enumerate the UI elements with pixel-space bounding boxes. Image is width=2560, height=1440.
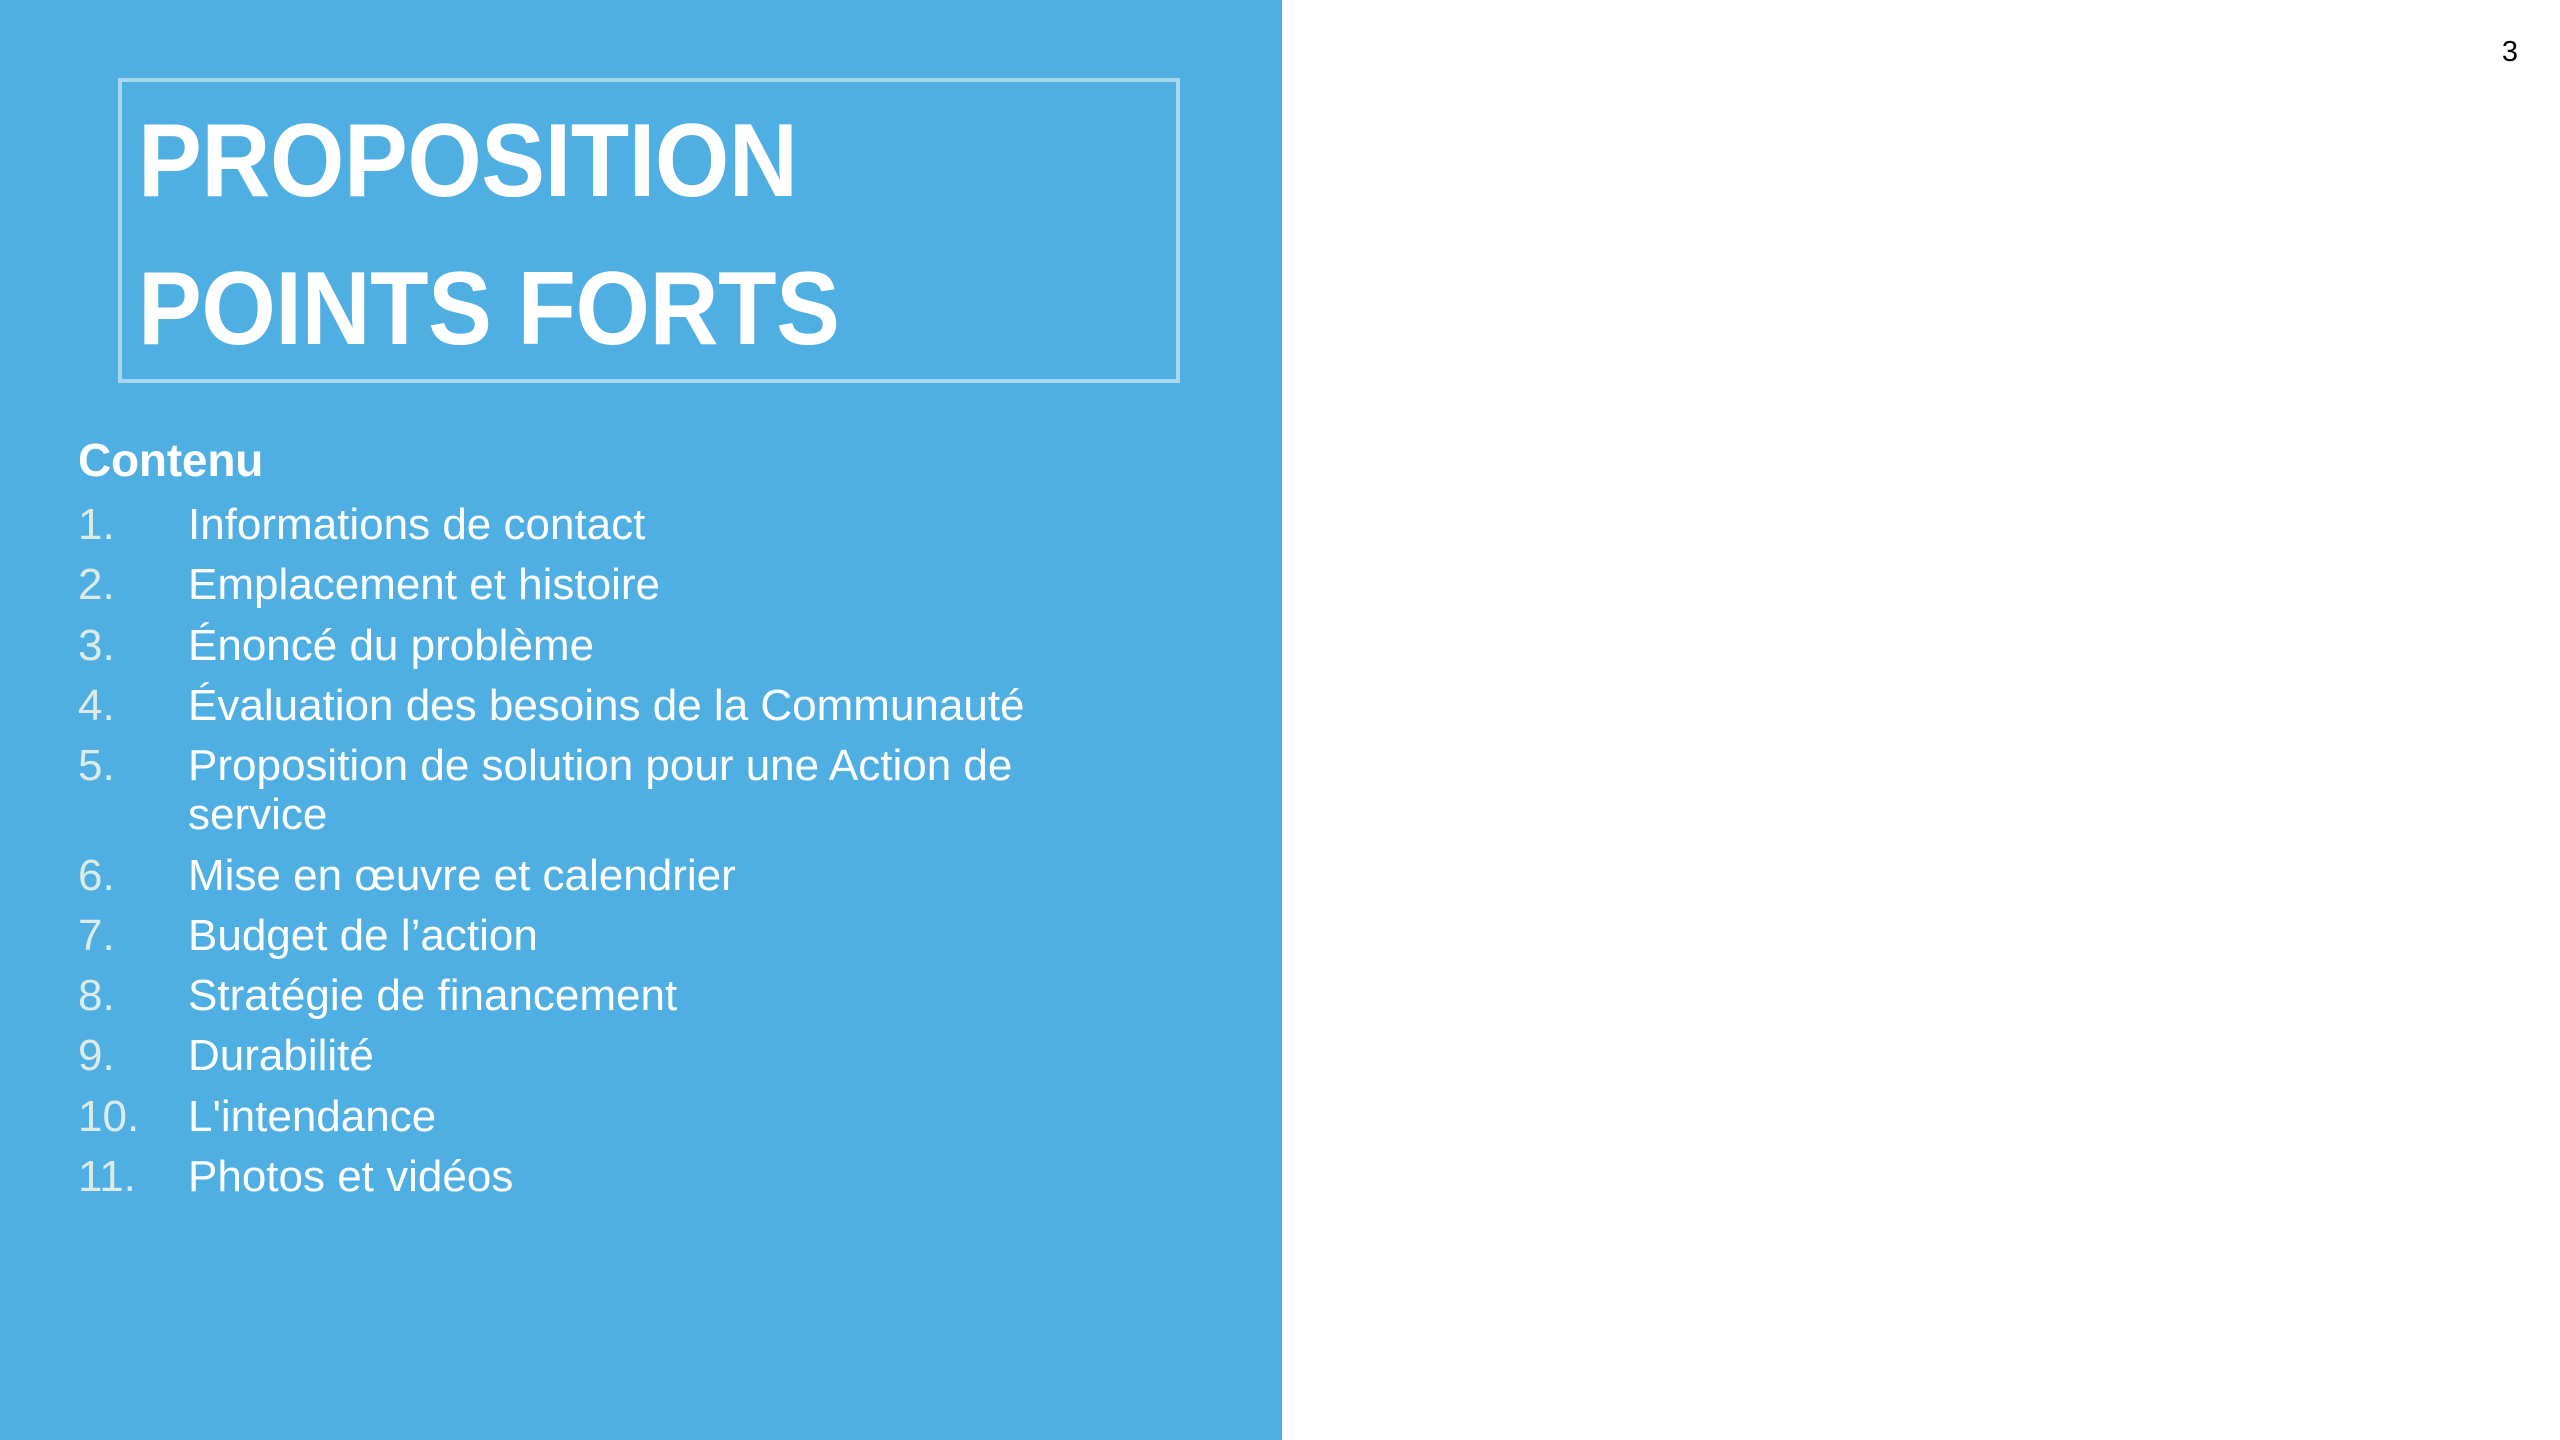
list-item-number: 4. (78, 681, 188, 730)
list-item[interactable]: 5. Proposition de solution pour une Acti… (78, 741, 1258, 840)
title-frame: PROPOSITION POINTS FORTS (118, 78, 1180, 383)
list-item-label: Durabilité (188, 1031, 1258, 1080)
list-item-label: Stratégie de financement (188, 971, 1258, 1020)
list-item-number: 3. (78, 621, 188, 670)
list-item-number: 8. (78, 971, 188, 1020)
list-item-number: 1. (78, 500, 188, 549)
list-item-label: Informations de contact (188, 500, 1258, 549)
page-number: 3 (2480, 38, 2540, 67)
list-item-number: 6. (78, 851, 188, 900)
list-item-label: Mise en œuvre et calendrier (188, 851, 1258, 900)
list-item-number: 2. (78, 560, 188, 609)
list-item-number: 9. (78, 1031, 188, 1080)
page-title: PROPOSITION POINTS FORTS (138, 88, 1076, 383)
list-item[interactable]: 9. Durabilité (78, 1031, 1258, 1080)
list-item-number: 11. (78, 1152, 188, 1201)
list-item[interactable]: 3. Énoncé du problème (78, 621, 1258, 670)
list-item-label: Énoncé du problème (188, 621, 1258, 670)
list-item[interactable]: 2. Emplacement et histoire (78, 560, 1258, 609)
table-of-contents-list: 1. Informations de contact 2. Emplacemen… (78, 500, 1258, 1212)
list-item-number: 7. (78, 911, 188, 960)
list-item[interactable]: 7. Budget de l’action (78, 911, 1258, 960)
list-item-number: 5. (78, 741, 188, 790)
list-item-label: Évaluation des besoins de la Communauté (188, 681, 1258, 730)
list-item[interactable]: 8. Stratégie de financement (78, 971, 1258, 1020)
list-item-label: Budget de l’action (188, 911, 1258, 960)
list-item[interactable]: 11. Photos et vidéos (78, 1152, 1258, 1201)
list-item-number: 10. (78, 1092, 188, 1141)
list-item[interactable]: 10. L'intendance (78, 1092, 1258, 1141)
list-item-label: Photos et vidéos (188, 1152, 1258, 1201)
contents-heading: Contenu (78, 434, 263, 487)
slide-canvas: PROPOSITION POINTS FORTS Contenu 1. Info… (0, 0, 2560, 1440)
list-item[interactable]: 6. Mise en œuvre et calendrier (78, 851, 1258, 900)
list-item-label: L'intendance (188, 1092, 1258, 1141)
list-item-label: Emplacement et histoire (188, 560, 1258, 609)
list-item[interactable]: 4. Évaluation des besoins de la Communau… (78, 681, 1258, 730)
list-item-label: Proposition de solution pour une Action … (188, 741, 1258, 840)
list-item[interactable]: 1. Informations de contact (78, 500, 1258, 549)
